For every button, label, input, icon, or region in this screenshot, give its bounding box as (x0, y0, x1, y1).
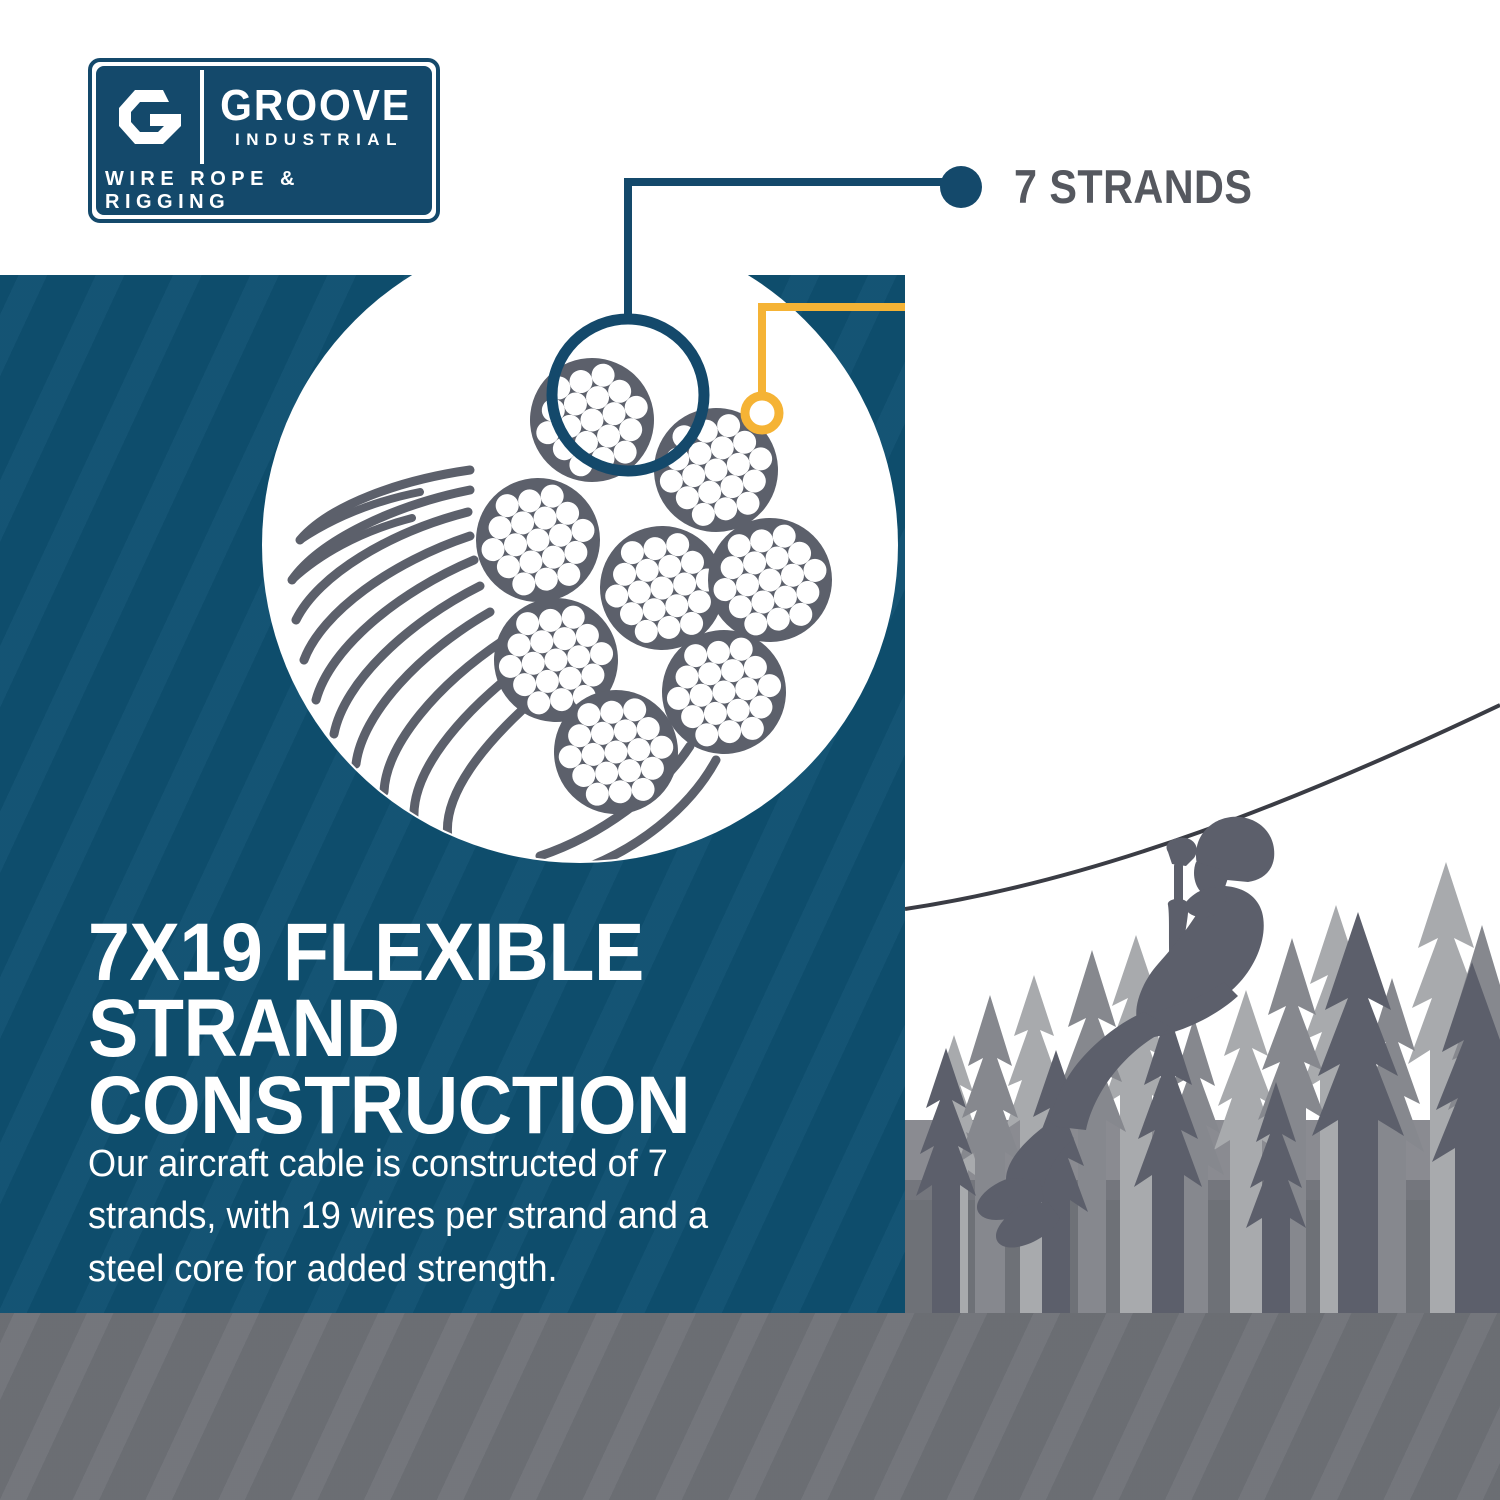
groove-g-monogram-icon (100, 70, 204, 164)
headline-line-2: STRAND CONSTRUCTION (88, 991, 815, 1144)
logo-inner-frame: GROOVE INDUSTRIAL WIRE ROPE & RIGGING (96, 66, 432, 215)
band-stripe-texture (0, 1313, 1500, 1500)
logo-name-primary: GROOVE (221, 86, 412, 126)
g-monogram-glyph (117, 88, 183, 146)
bottom-grey-band (0, 1313, 1500, 1500)
logo-tagline-row: WIRE ROPE & RIGGING (100, 168, 428, 214)
page-title: 7X19 FLEXIBLE STRAND CONSTRUCTION (88, 915, 815, 1144)
body-paragraph: Our aircraft cable is constructed of 7 s… (88, 1138, 753, 1295)
logo-top-row: GROOVE INDUSTRIAL (100, 70, 428, 168)
brand-logo[interactable]: GROOVE INDUSTRIAL WIRE ROPE & RIGGING (88, 58, 440, 223)
logo-name-secondary: INDUSTRIAL (229, 130, 403, 150)
logo-tagline: WIRE ROPE & RIGGING (100, 168, 428, 214)
logo-wordmark: GROOVE INDUSTRIAL (204, 70, 428, 164)
infographic-canvas: 7 STRANDS 19 WIRES PER STRAND HOT DIP GA… (0, 0, 1500, 1500)
